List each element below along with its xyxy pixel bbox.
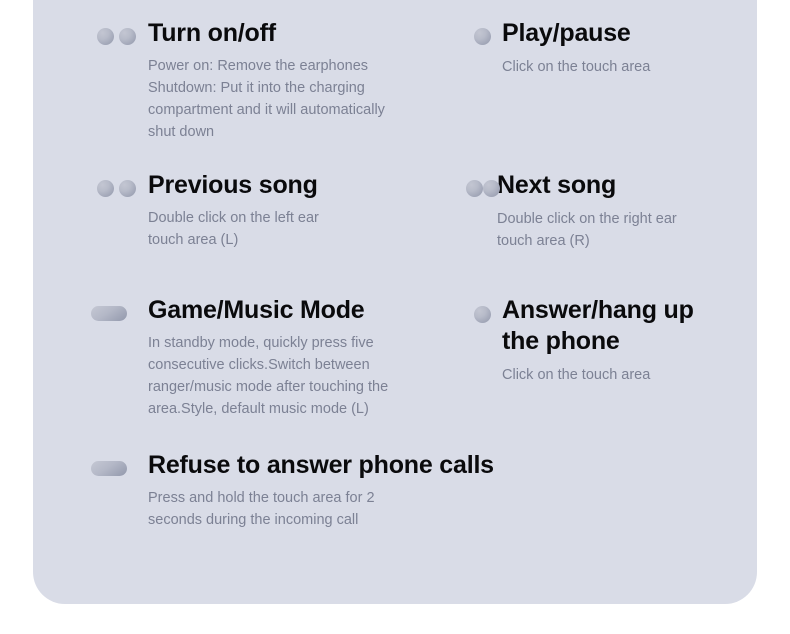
feature-title-answer-hangup: Answer/hang up the phone xyxy=(502,295,768,357)
feature-item-answer-hangup: Answer/hang up the phone Click on the to… xyxy=(438,295,768,386)
feature-item-game-music-mode: Game/Music Mode In standby mode, quickly… xyxy=(58,295,398,420)
dot-icon xyxy=(474,28,491,45)
double-dot-spaced-icon xyxy=(97,180,136,197)
feature-description-next-song: Double click on the right ear touch area… xyxy=(497,208,763,252)
pill-long-press-icon xyxy=(91,306,127,321)
feature-title-previous-song: Previous song xyxy=(148,170,394,201)
dot-icon xyxy=(474,306,491,323)
feature-title-game-music-mode: Game/Music Mode xyxy=(148,295,398,326)
pill-icon xyxy=(91,306,127,321)
feature-description-refuse-call: Press and hold the touch area for 2 seco… xyxy=(148,487,558,531)
dot-icon xyxy=(119,180,136,197)
dot-icon xyxy=(97,180,114,197)
feature-title-refuse-call: Refuse to answer phone calls xyxy=(148,450,558,481)
feature-description-previous-song: Double click on the left ear touch area … xyxy=(148,207,394,251)
feature-description-answer-hangup: Click on the touch area xyxy=(502,364,768,386)
feature-item-next-song: Next song Double click on the right ear … xyxy=(433,170,763,252)
feature-description-game-music-mode: In standby mode, quickly press five cons… xyxy=(148,332,398,420)
dot-icon xyxy=(97,28,114,45)
pill-icon xyxy=(91,461,127,476)
feature-item-previous-song: Previous song Double click on the left e… xyxy=(64,170,394,251)
feature-title-turn-onoff: Turn on/off xyxy=(148,18,394,49)
feature-item-play-pause: Play/pause Click on the touch area xyxy=(438,18,768,78)
pill-long-press-icon xyxy=(91,461,127,476)
dot-icon xyxy=(483,180,500,197)
feature-item-turn-onoff: Turn on/off Power on: Remove the earphon… xyxy=(64,18,394,143)
single-dot-icon xyxy=(474,28,491,45)
single-dot-icon xyxy=(474,306,491,323)
double-dot-spaced-icon xyxy=(97,28,136,45)
feature-description-turn-onoff: Power on: Remove the earphones Shutdown:… xyxy=(148,55,394,143)
double-dot-joined-icon xyxy=(466,180,500,197)
dot-icon xyxy=(466,180,483,197)
feature-item-refuse-call: Refuse to answer phone calls Press and h… xyxy=(58,450,558,531)
feature-title-next-song: Next song xyxy=(497,170,763,201)
feature-title-play-pause: Play/pause xyxy=(502,18,768,49)
dot-icon xyxy=(119,28,136,45)
feature-instructions-card: Turn on/off Power on: Remove the earphon… xyxy=(33,0,757,604)
feature-description-play-pause: Click on the touch area xyxy=(502,56,768,78)
